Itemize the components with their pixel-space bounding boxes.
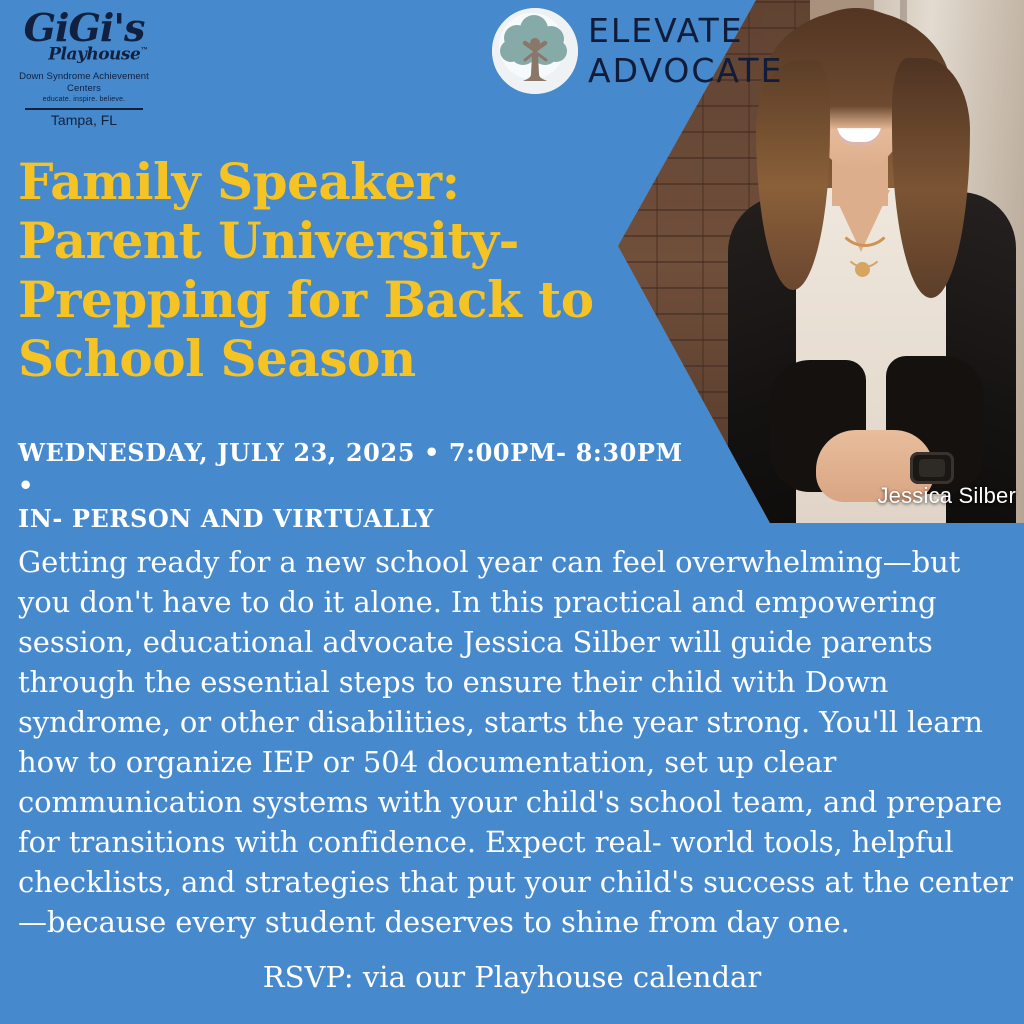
tree-with-person-icon xyxy=(492,8,578,94)
trademark-symbol: ™ xyxy=(140,45,148,55)
rsvp-line: RSVP: via our Playhouse calendar xyxy=(0,958,1024,996)
event-headline: Family Speaker: Parent University- Prepp… xyxy=(18,152,638,388)
datetime-line-1: WEDNESDAY, JULY 23, 2025 • 7:00PM- 8:30P… xyxy=(18,436,698,502)
playhouse-word: Playhouse xyxy=(48,45,140,65)
elevate-advocate-wordmark: ELEVATE ADVOCATE xyxy=(588,11,783,91)
gigis-tagline: Down Syndrome Achievement Centers xyxy=(8,71,160,95)
elevate-line-2: ADVOCATE xyxy=(588,51,783,91)
wristwatch xyxy=(910,452,954,484)
gigis-playhouse-logo: GiGi's Playhouse™ Down Syndrome Achievem… xyxy=(8,8,160,129)
event-description: Getting ready for a new school year can … xyxy=(18,542,1014,942)
event-flyer: Jessica Silber GiGi's Playhouse™ Down Sy… xyxy=(0,0,1024,1024)
gigis-values: educate. inspire. believe. xyxy=(8,95,160,105)
elevate-line-1: ELEVATE xyxy=(588,11,744,50)
elevate-advocate-logo: ELEVATE ADVOCATE xyxy=(492,8,783,94)
headline-line-2: Parent University- xyxy=(18,211,638,270)
datetime-line-2: IN- PERSON AND VIRTUALLY xyxy=(18,502,698,535)
gigis-location: Tampa, FL xyxy=(8,112,160,129)
gigis-subbrand-text: Playhouse™ xyxy=(36,42,160,64)
logo-divider xyxy=(25,108,143,110)
event-datetime: WEDNESDAY, JULY 23, 2025 • 7:00PM- 8:30P… xyxy=(18,436,698,535)
headline-line-3: Prepping for Back to xyxy=(18,270,638,329)
speaker-name-caption: Jessica Silber xyxy=(877,483,1016,509)
headline-line-4: School Season xyxy=(18,329,638,388)
headline-line-1: Family Speaker: xyxy=(18,152,638,211)
